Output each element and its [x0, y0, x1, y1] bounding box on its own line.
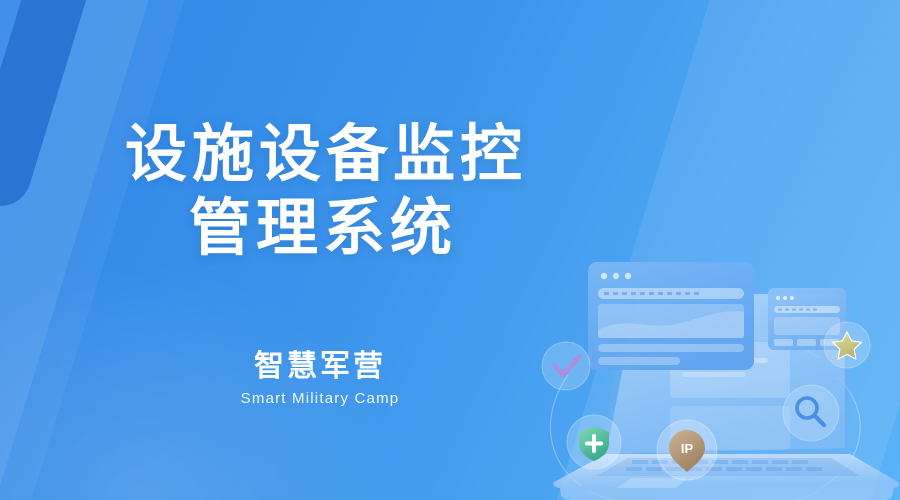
page-title-line-2: 管理系统 [6, 192, 640, 266]
ip-location-pin-icon: IP [657, 420, 717, 480]
subtitle-block: 智慧军营 Smart Military Camp [0, 348, 640, 410]
laptop-keyboard [596, 458, 860, 476]
ip-pin-label: IP [681, 441, 694, 456]
headline-block: 设施设备监控 管理系统 [0, 118, 640, 266]
page-title-line-1: 设施设备监控 [12, 118, 640, 192]
subtitle-chinese: 智慧军营 [0, 348, 640, 386]
shield-plus-icon [567, 415, 621, 469]
promo-banner: IP 设施设备监控 管理系统 智慧军营 Smart Military Camp [0, 0, 900, 500]
subtitle-english: Smart Military Camp [0, 388, 640, 410]
magnifier-icon [783, 385, 839, 441]
star-icon [824, 322, 870, 368]
